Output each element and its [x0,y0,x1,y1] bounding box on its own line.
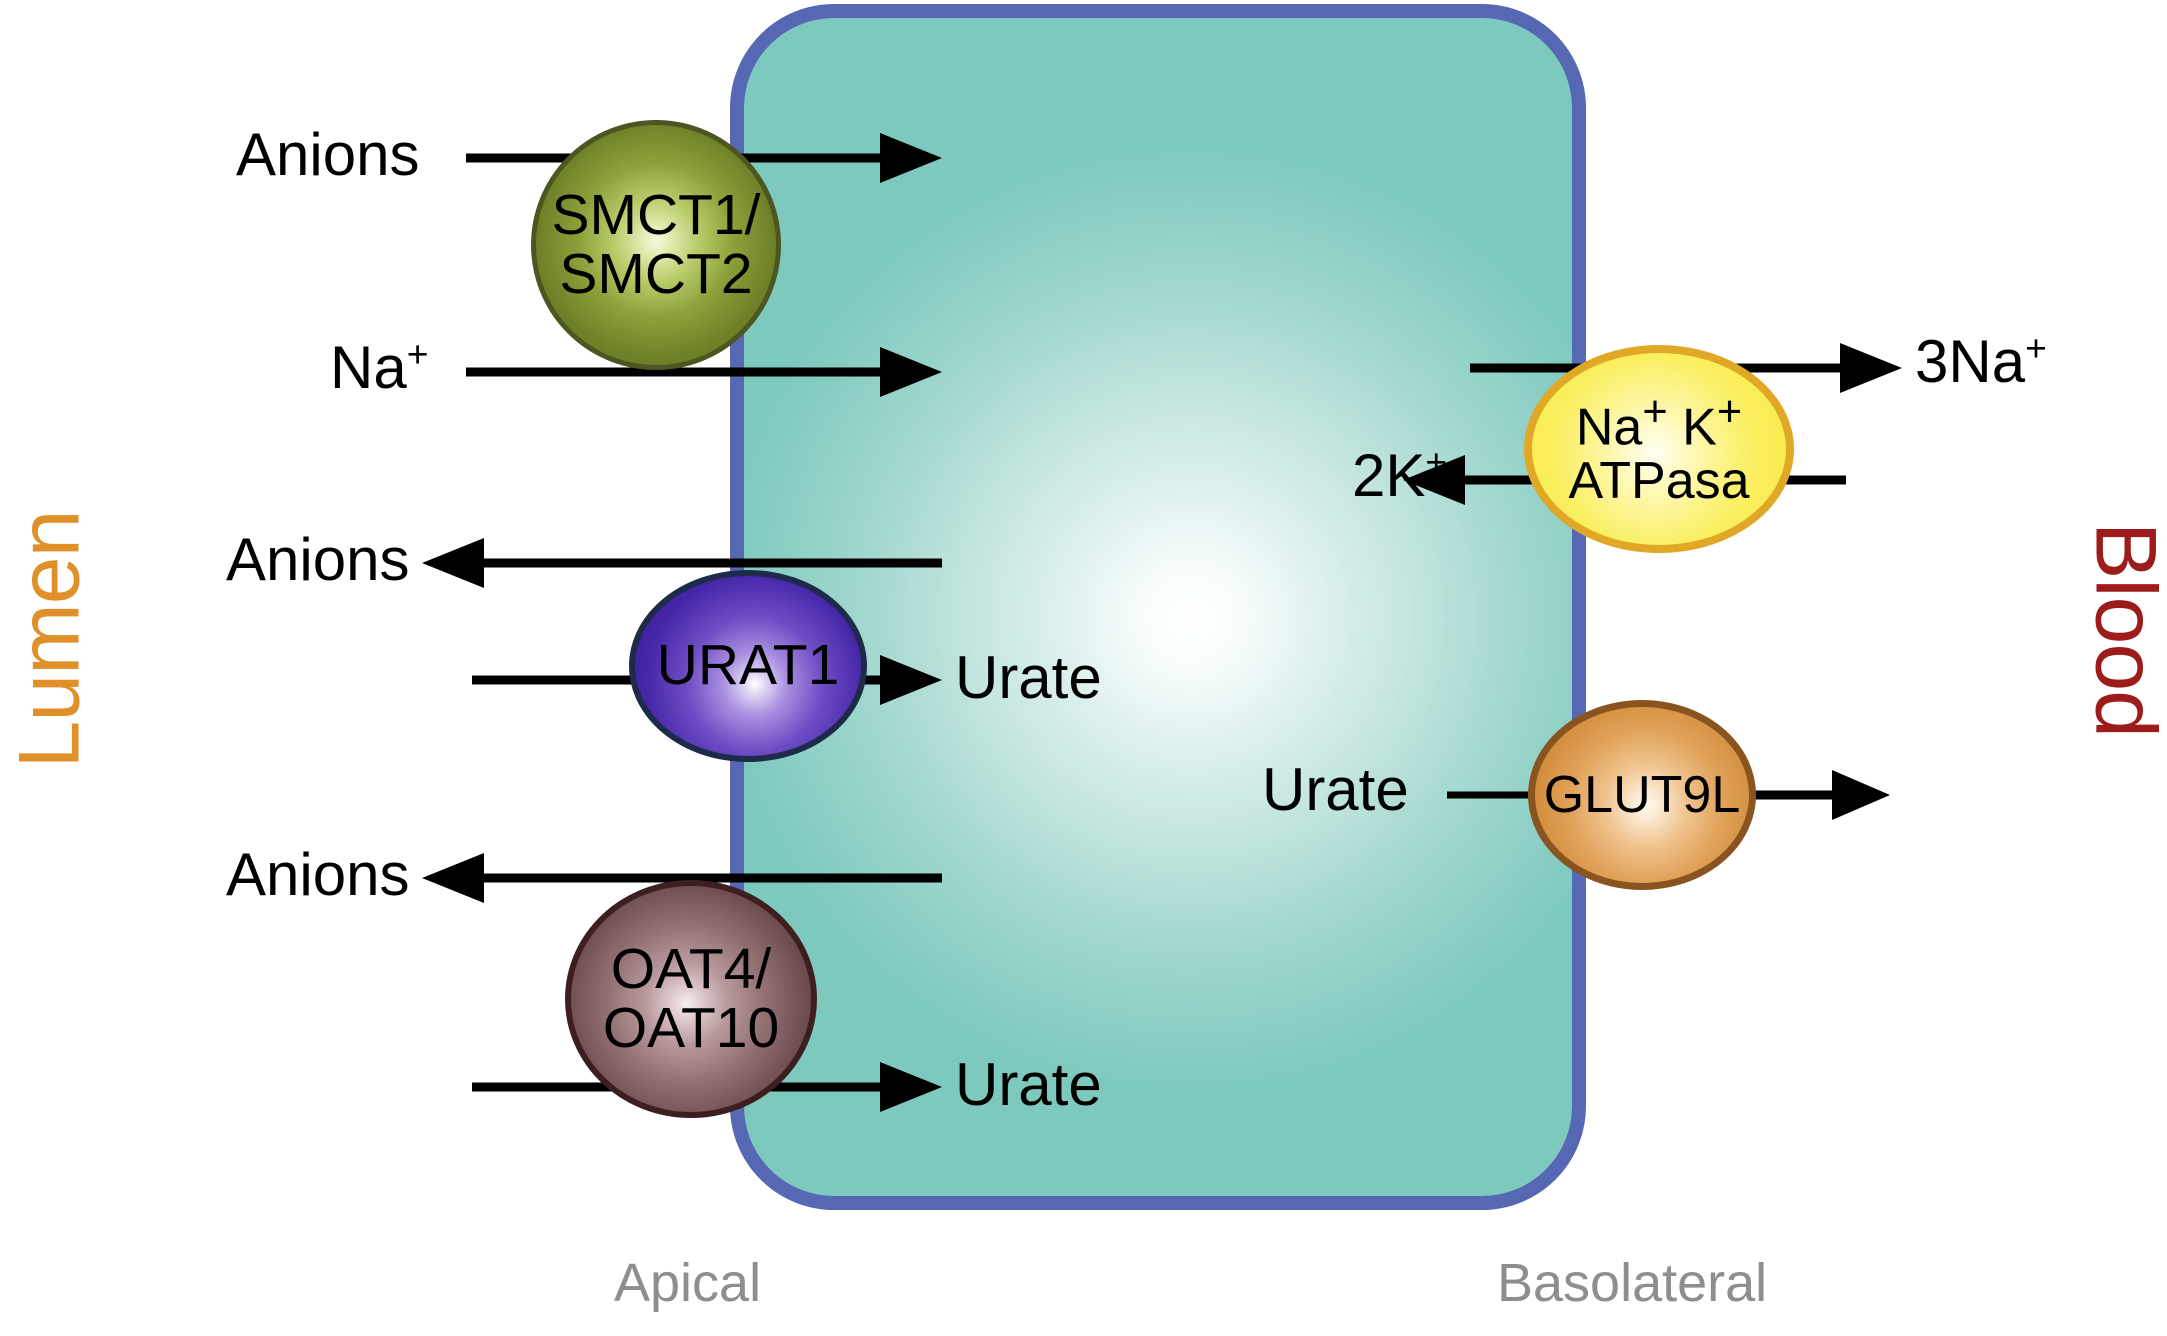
transporter-urat1[interactable]: URAT1 [629,570,867,762]
label-na-smct: Na+ [330,338,428,398]
label-2k: 2K+ [1352,446,1447,506]
transporter-atpase-label: Na+ K+ATPasa [1568,390,1749,508]
three-na-text: 3Na [1915,328,2025,395]
compartment-label-lumen: Lumen [1,490,100,790]
diagram-canvas: SMCT1/ SMCT2 URAT1 OAT4/ OAT10 Na+ K+ATP… [0,0,2167,1336]
transporter-smct1-smct2[interactable]: SMCT1/ SMCT2 [531,120,781,370]
transporter-oat4-oat10[interactable]: OAT4/ OAT10 [565,880,817,1118]
transporter-oat-label: OAT4/ OAT10 [603,940,779,1059]
atpase-k-charge: + [1717,388,1742,436]
two-k-charge: + [1425,441,1447,483]
three-na-charge: + [2025,327,2047,369]
transporter-glut9l[interactable]: GLUT9L [1528,700,1756,890]
transporter-smct-label: SMCT1/ SMCT2 [551,186,760,305]
compartment-label-blood: Blood [2076,480,2167,780]
membrane-label-apical: Apical [614,1252,761,1314]
arrow-urate-to-blood [1740,770,1890,820]
atpase-na-charge: + [1642,388,1667,436]
label-3na: 3Na+ [1915,332,2047,392]
label-anions-smct: Anions [236,125,419,185]
na-smct-charge: + [407,333,429,375]
na-smct-text: Na [330,334,407,401]
label-anions-urat1: Anions [226,530,409,590]
transporter-glut9l-label: GLUT9L [1544,768,1741,822]
label-urate-urat1: Urate [955,648,1102,708]
arrow-anions-out-urat1 [422,538,942,588]
atpase-na-text: Na [1576,398,1642,456]
transporter-urat1-label: URAT1 [657,636,840,695]
membrane-label-basolateral: Basolateral [1497,1252,1767,1314]
label-urate-oat: Urate [955,1055,1102,1115]
two-k-text: 2K [1352,442,1425,509]
label-anions-oat: Anions [226,845,409,905]
atpase-k-text: K [1682,398,1717,456]
transporter-na-k-atpase[interactable]: Na+ K+ATPasa [1524,345,1794,553]
label-urate-glut9l: Urate [1262,760,1409,820]
atpase-second-line: ATPasa [1568,452,1749,510]
